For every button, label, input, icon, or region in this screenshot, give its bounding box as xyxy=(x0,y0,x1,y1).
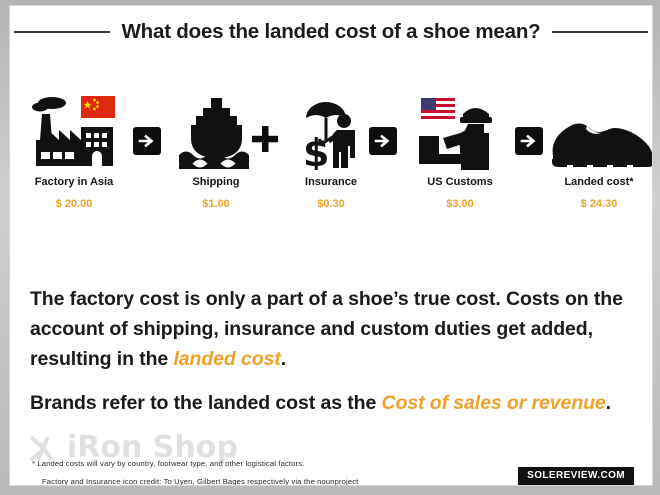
customs-officer-icon xyxy=(400,92,520,170)
paragraph1-line2: account of shipping, insurance and custo… xyxy=(30,314,630,344)
paragraph2-suffix: . xyxy=(606,392,611,414)
arrow-right-icon xyxy=(369,127,397,155)
flow-stage-label: Factory in Asia xyxy=(14,176,134,188)
flow-stage-value: $ 20.00 xyxy=(14,198,134,210)
flow-stage-value: $1.00 xyxy=(156,198,276,210)
shoe-icon xyxy=(536,92,652,170)
flow-stage-label: Insurance xyxy=(271,176,391,188)
flow-stage-label: US Customs xyxy=(400,176,520,188)
cost-flow-diagram: Factory in Asia $ 20.00 xyxy=(18,92,644,217)
slide-frame: What does the landed cost of a shoe mean… xyxy=(0,0,660,495)
slide-canvas: What does the landed cost of a shoe mean… xyxy=(10,6,652,485)
cost-of-sales-highlight: Cost of sales or revenue xyxy=(382,392,606,414)
body-paragraph-2: Brands refer to the landed cost as the C… xyxy=(30,388,630,418)
factory-icon xyxy=(14,92,134,170)
footnote-icon-credits: Factory and Insurance icon credit: To Uy… xyxy=(42,477,358,485)
body-paragraph-1: The factory cost is only a part of a sho… xyxy=(30,284,630,374)
paragraph2-line1: Brands refer to the landed cost as the C… xyxy=(30,388,630,418)
paragraph2-prefix: Brands refer to the landed cost as the xyxy=(30,392,382,414)
flow-stage-value: $ 24.30 xyxy=(536,198,652,210)
paragraph1-line3-suffix: . xyxy=(281,348,286,370)
paragraph1-line3: resulting in the landed cost. xyxy=(30,344,630,374)
paragraph1-line1: The factory cost is only a part of a sho… xyxy=(30,284,630,314)
flow-stage-value: $3.00 xyxy=(400,198,520,210)
title-rule-left xyxy=(14,31,110,33)
landed-cost-highlight: landed cost xyxy=(173,348,280,370)
flow-connector-3 xyxy=(366,124,400,158)
flow-stage-label: Shipping xyxy=(156,176,276,188)
slide-title-row: What does the landed cost of a shoe mean… xyxy=(10,20,652,44)
footnote-landed-cost-disclaimer: * Landed costs will vary by country, foo… xyxy=(32,459,304,468)
brand-badge[interactable]: SOLEREVIEW.COM xyxy=(518,467,634,485)
flow-stage-landed-cost: Landed cost* $ 24.30 xyxy=(536,92,652,210)
title-rule-right xyxy=(552,31,648,33)
flow-stage-value: $0.30 xyxy=(271,198,391,210)
page-title: What does the landed cost of a shoe mean… xyxy=(122,20,541,44)
watermark-logo-icon xyxy=(28,433,62,463)
svg-text:$: $ xyxy=(303,131,329,170)
flow-stage-label: Landed cost* xyxy=(536,176,652,188)
flow-stage-customs: US Customs $3.00 xyxy=(400,92,520,210)
flow-stage-factory: Factory in Asia $ 20.00 xyxy=(14,92,134,210)
paragraph1-line3-prefix: resulting in the xyxy=(30,348,173,370)
